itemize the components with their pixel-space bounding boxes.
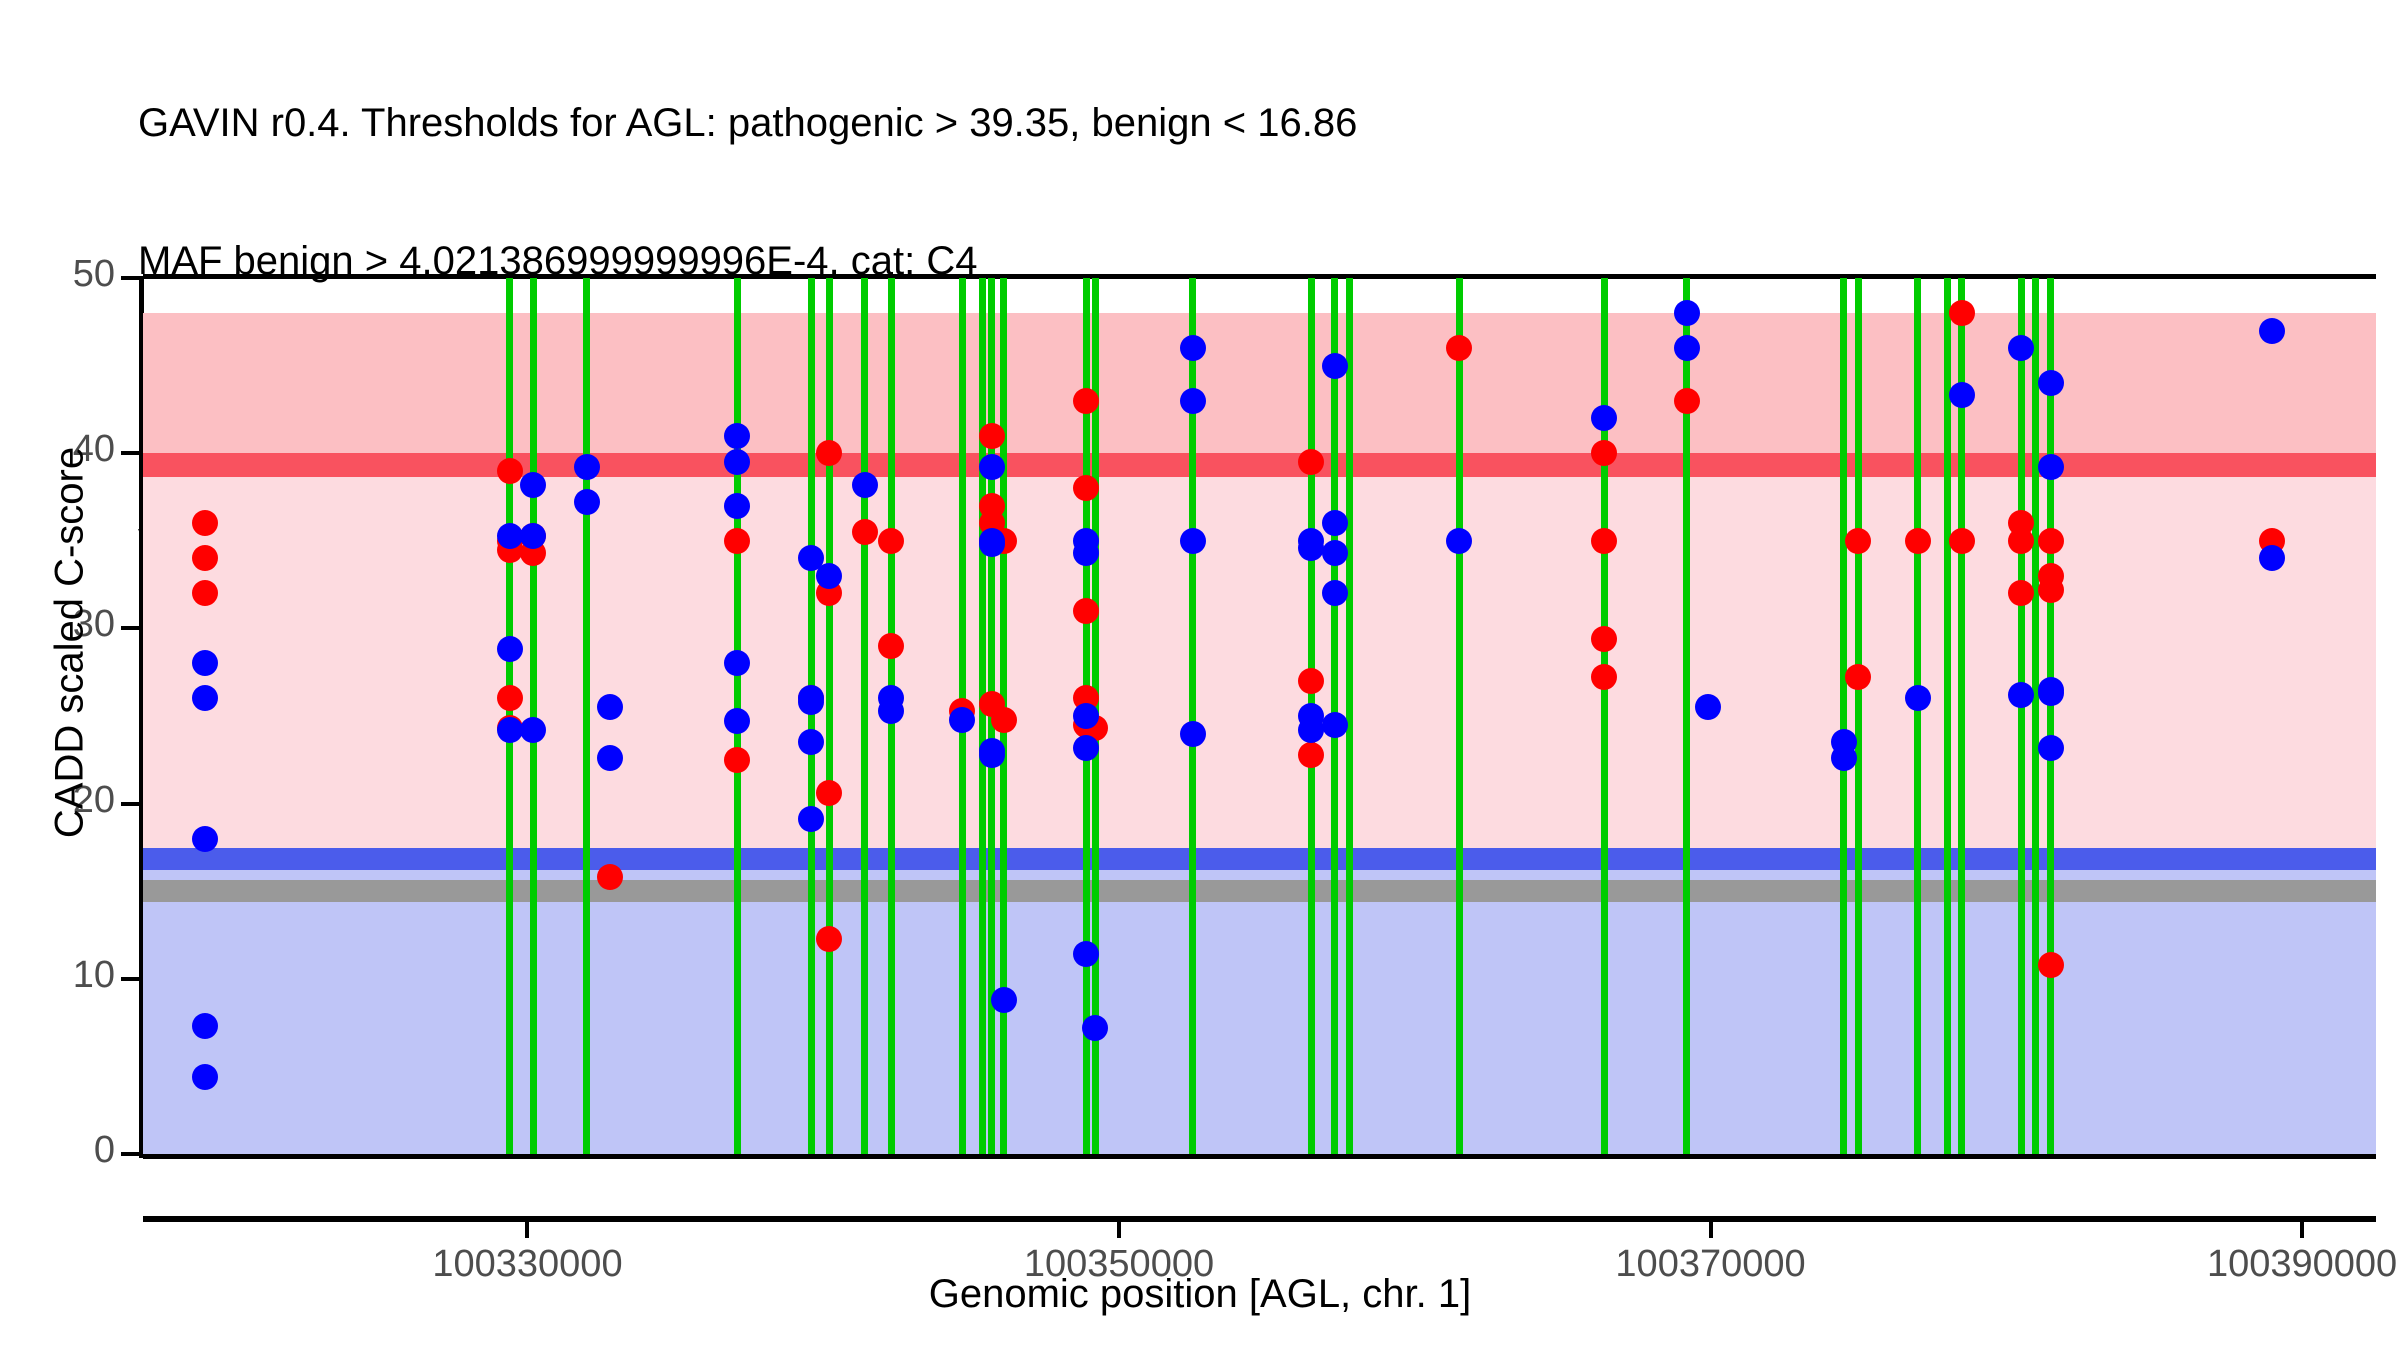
exon-line (1840, 278, 1847, 1154)
gnomad-variant-point (192, 826, 218, 852)
gnomad-variant-point (1322, 712, 1348, 738)
pathogenic-variant-point (979, 423, 1005, 449)
gnomad-variant-point (2008, 682, 2034, 708)
exon-line (1944, 278, 1951, 1154)
plot-border-bottom (143, 1154, 2376, 1159)
x-axis-tick (1117, 1216, 1121, 1238)
exon-line (1855, 278, 1862, 1154)
pathogenic-variant-point (878, 528, 904, 554)
y-axis-tick (121, 276, 143, 280)
x-axis-tick (2300, 1216, 2304, 1238)
ambiguous-zone-band (143, 465, 2376, 859)
exon-line (861, 278, 868, 1154)
gnomad-variant-point (2038, 454, 2064, 480)
gnomad-variant-point (1298, 535, 1324, 561)
exon-line (1346, 278, 1353, 1154)
title-line-1: GAVIN r0.4. Thresholds for AGL: pathogen… (138, 100, 2338, 146)
y-axis-tick (121, 802, 143, 806)
gnomad-variant-point (1831, 745, 1857, 771)
gnomad-variant-point (1180, 528, 1206, 554)
gnomad-variant-point (1322, 540, 1348, 566)
gnomad-variant-point (1322, 510, 1348, 536)
pathogenic-variant-point (1949, 300, 1975, 326)
gnomad-variant-point (852, 472, 878, 498)
exon-line (979, 278, 986, 1154)
benign-zone-band (143, 859, 2376, 1154)
gnomad-variant-point (192, 1064, 218, 1090)
gnomad-variant-point (2038, 680, 2064, 706)
pathogenic-variant-point (1591, 626, 1617, 652)
pathogenic-variant-point (2038, 528, 2064, 554)
exon-line (530, 278, 537, 1154)
exon-line (1914, 278, 1921, 1154)
y-axis-tick (121, 1152, 143, 1156)
gnomad-variant-point (1905, 685, 1931, 711)
fallback-threshold-line (143, 880, 2376, 902)
gnomad-variant-point (1322, 353, 1348, 379)
gnomad-variant-point (520, 523, 546, 549)
y-axis-tick-label: 0 (0, 1129, 115, 1172)
exon-line (1456, 278, 1463, 1154)
pathogenic-variant-point (852, 519, 878, 545)
gnomad-variant-point (1180, 335, 1206, 361)
y-axis-label: CADD scaled C-score (48, 243, 93, 1043)
pathogenic-variant-point (991, 707, 1017, 733)
gnomad-variant-point (1446, 528, 1472, 554)
gnomad-variant-point (979, 454, 1005, 480)
gnomad-variant-point (497, 636, 523, 662)
gnomad-variant-point (1674, 300, 1700, 326)
gnomad-variant-point (2038, 735, 2064, 761)
gnomad-variant-point (520, 472, 546, 498)
gnomad-variant-point (949, 707, 975, 733)
pathogenic-variant-point (2038, 952, 2064, 978)
pathogenic-variant-point (2038, 577, 2064, 603)
gnomad-variant-point (1180, 388, 1206, 414)
gnomad-variant-point (979, 742, 1005, 768)
gnomad-variant-point (497, 523, 523, 549)
exon-line (2047, 278, 2054, 1154)
pathogenic-variant-point (1591, 528, 1617, 554)
gnomad-variant-point (1073, 735, 1099, 761)
gnomad-variant-point (2038, 370, 2064, 396)
y-axis-tick (121, 451, 143, 455)
gnomad-variant-point (1674, 335, 1700, 361)
y-axis-tick (121, 977, 143, 981)
pathogenic-variant-point (878, 633, 904, 659)
gnomad-variant-point (816, 563, 842, 589)
x-axis-tick (1709, 1216, 1713, 1238)
gnomad-variant-point (2008, 335, 2034, 361)
gnomad-variant-point (1082, 1015, 1108, 1041)
gnomad-variant-point (724, 423, 750, 449)
gnomad-variant-point (574, 489, 600, 515)
chart-root: GAVIN r0.4. Thresholds for AGL: pathogen… (0, 0, 2400, 1350)
plot-inner (143, 278, 2376, 1154)
gnomad-variant-point (1180, 721, 1206, 747)
exon-line (583, 278, 590, 1154)
x-axis-line (143, 1216, 2376, 1222)
gnomad-variant-point (2259, 318, 2285, 344)
pathogenic-variant-point (1298, 742, 1324, 768)
pathogenic-variant-point (816, 926, 842, 952)
pathogenic-variant-point (2008, 528, 2034, 554)
gnomad-variant-point (497, 717, 523, 743)
pathogenic-variant-point (497, 458, 523, 484)
benign-threshold-line (143, 848, 2376, 870)
exon-line (826, 278, 833, 1154)
plot-area (143, 278, 2376, 1154)
y-axis-tick (121, 626, 143, 630)
x-axis-label: Genomic position [AGL, chr. 1] (0, 1272, 2400, 1317)
exon-line (1958, 278, 1965, 1154)
exon-line (808, 278, 815, 1154)
x-axis-tick (525, 1216, 529, 1238)
pathogenic-variant-point (1905, 528, 1931, 554)
pathogenic-variant-point (1073, 388, 1099, 414)
gnomad-variant-point (1695, 694, 1721, 720)
gnomad-variant-point (574, 454, 600, 480)
pathogenic-variant-point (1949, 528, 1975, 554)
gnomad-variant-point (878, 698, 904, 724)
gnomad-variant-point (991, 987, 1017, 1013)
gnomad-variant-point (979, 531, 1005, 557)
exon-line (2018, 278, 2025, 1154)
pathogenic-variant-point (1674, 388, 1700, 414)
exon-line (2032, 278, 2039, 1154)
